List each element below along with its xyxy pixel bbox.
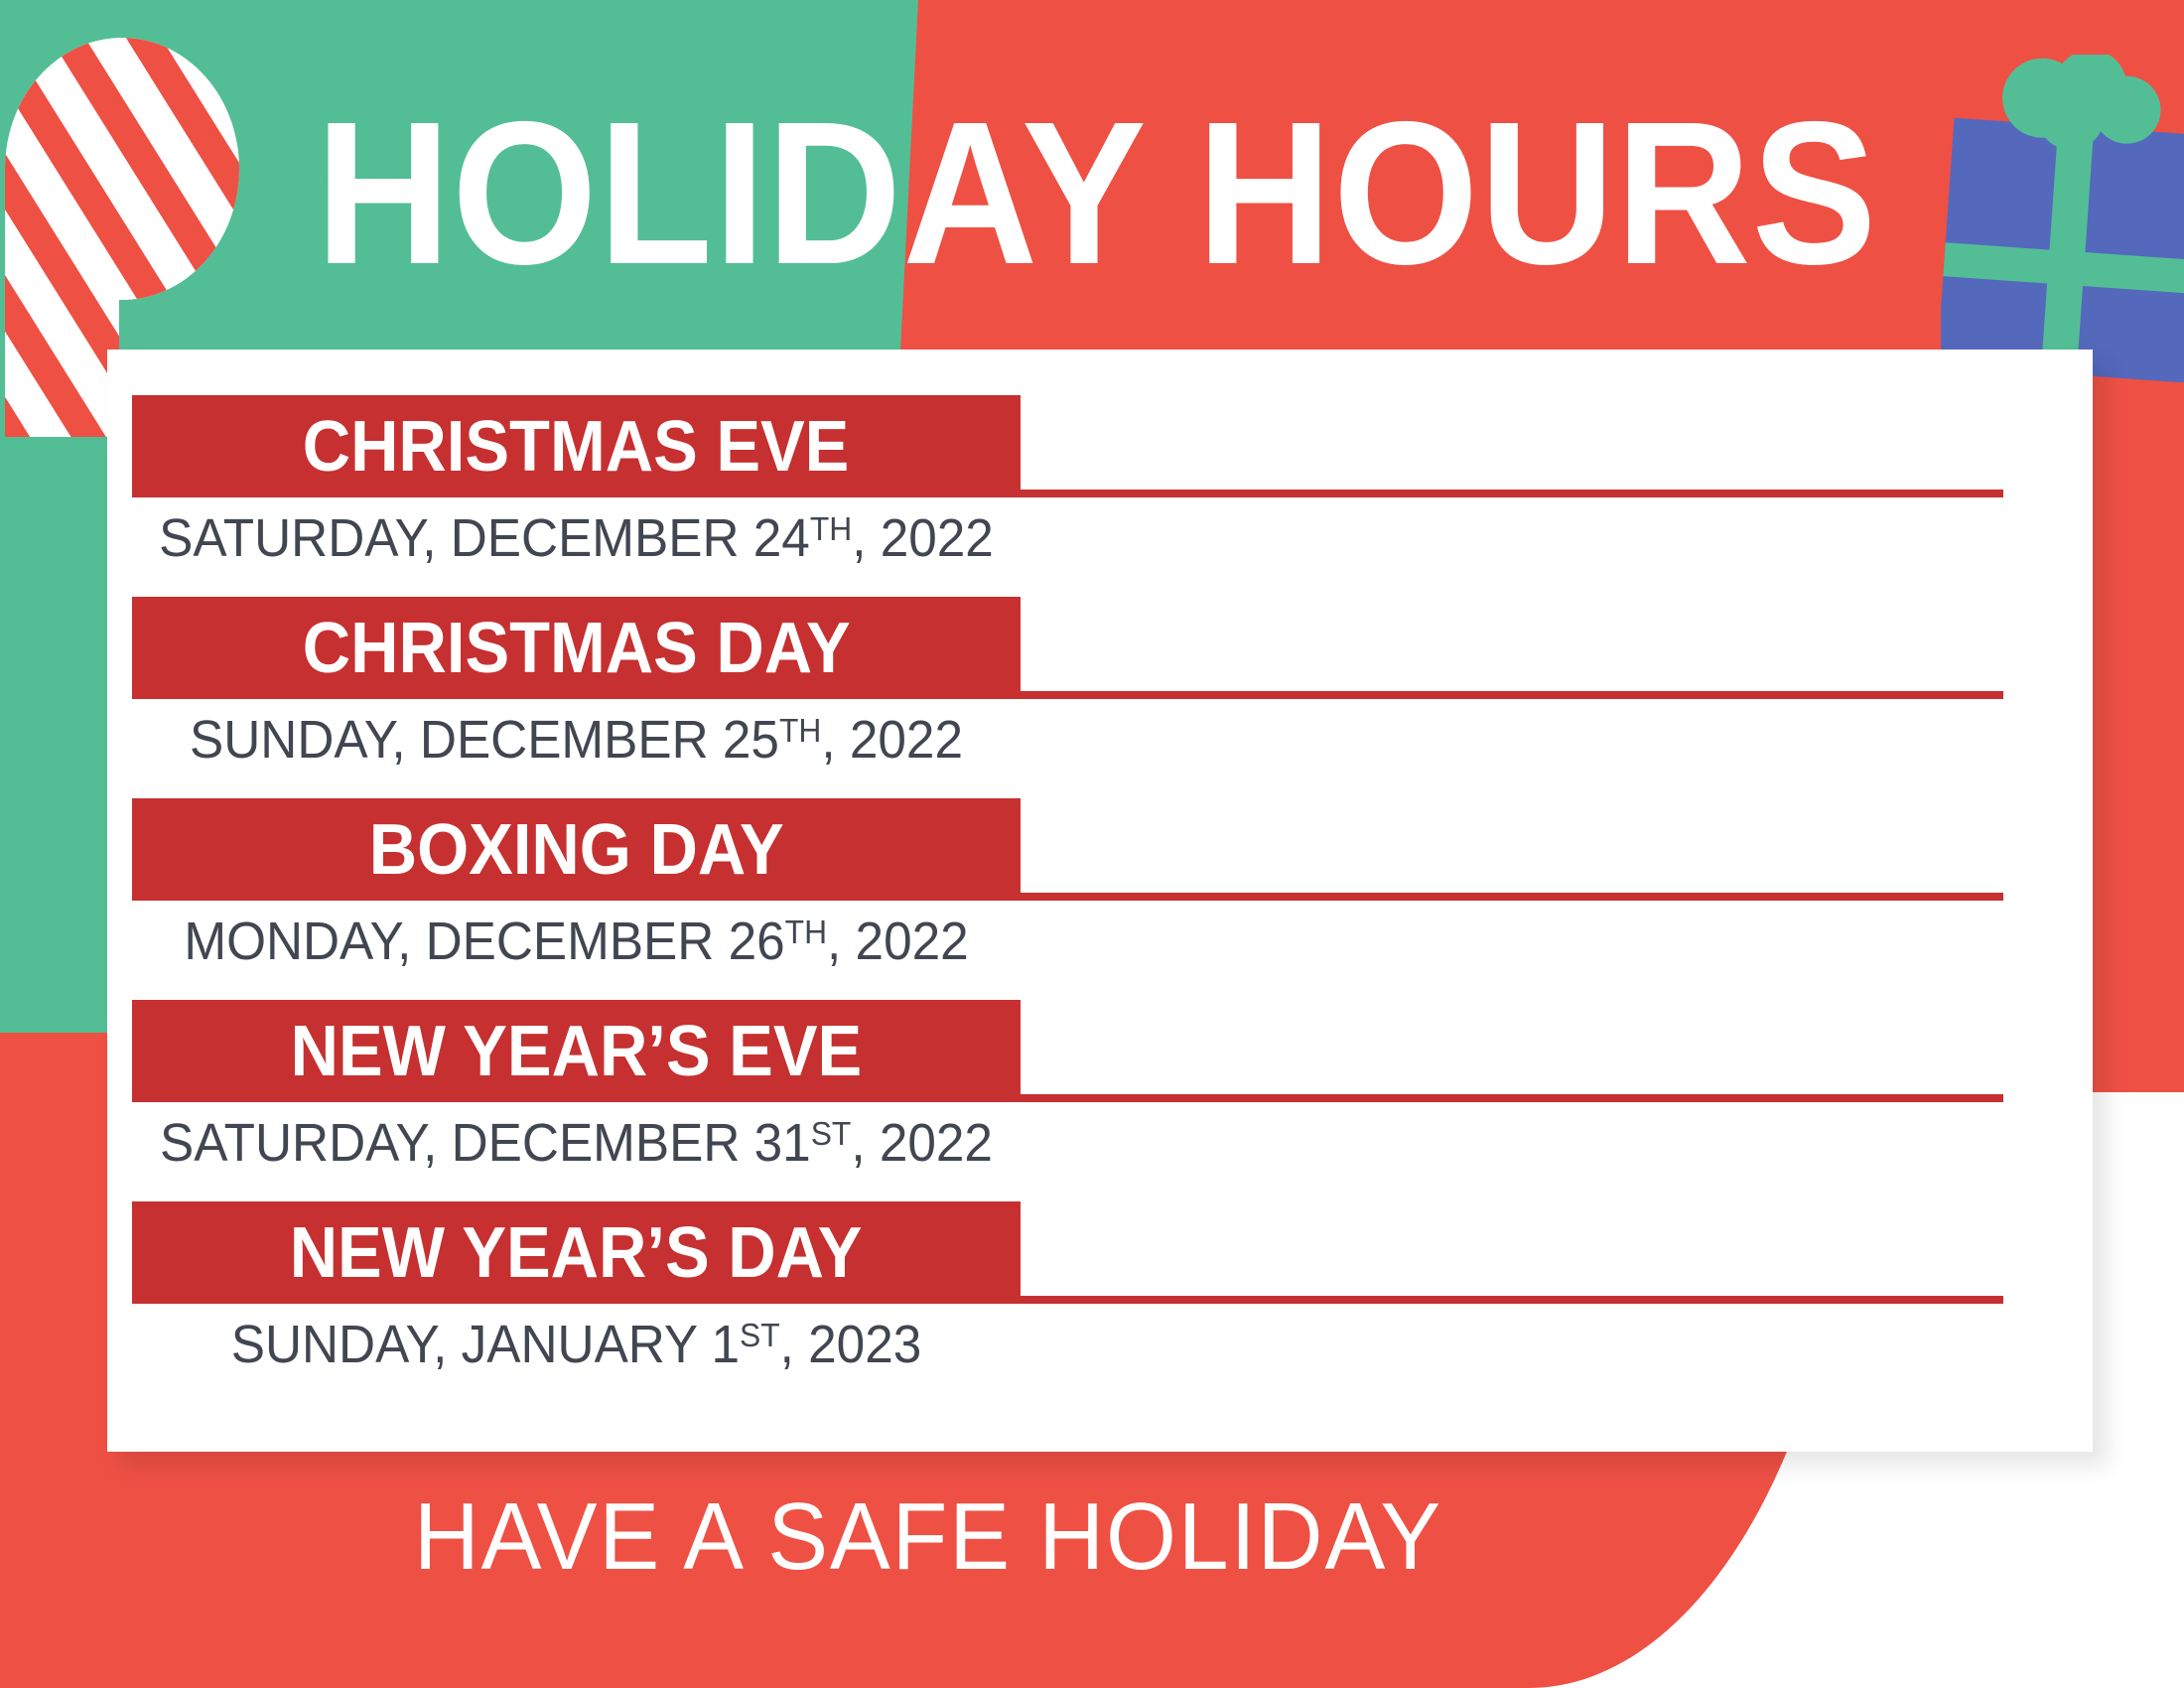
holiday-date-prefix: SATURDAY, DECEMBER 31 [160, 1113, 811, 1173]
holiday-name-bar: NEW YEAR’S DAY [132, 1201, 1021, 1304]
holiday-date-label: SATURDAY, DECEMBER 24TH, 2022 [154, 506, 998, 570]
holiday-name-bar: CHRISTMAS EVE [132, 395, 1021, 497]
holiday-date-prefix: MONDAY, DECEMBER 26 [184, 912, 784, 971]
list-item: NEW YEAR’S EVE SATURDAY, DECEMBER 31ST, … [107, 1000, 2093, 1203]
holiday-date-suffix: , 2022 [827, 912, 969, 971]
holiday-date-suffix: , 2022 [852, 508, 994, 568]
holiday-name-label: NEW YEAR’S EVE [291, 1016, 863, 1087]
holiday-date-label: SATURDAY, DECEMBER 31ST, 2022 [154, 1111, 998, 1175]
holiday-name-bar: BOXING DAY [132, 798, 1021, 901]
page-title: HOLIDAY HOURS [87, 91, 2097, 295]
hours-write-in-line[interactable] [1021, 691, 2003, 699]
holiday-name-label: BOXING DAY [369, 814, 784, 886]
holiday-name-label: NEW YEAR’S DAY [290, 1217, 863, 1289]
holiday-date-label: SUNDAY, JANUARY 1ST, 2023 [154, 1313, 998, 1376]
holiday-name-label: CHRISTMAS EVE [303, 411, 850, 483]
holiday-name-label: CHRISTMAS DAY [303, 613, 851, 684]
hours-card: CHRISTMAS EVE SATURDAY, DECEMBER 24TH, 2… [107, 350, 2093, 1452]
holiday-date-ordinal: ST [811, 1116, 852, 1153]
holiday-date-ordinal: TH [810, 511, 852, 548]
holiday-date-ordinal: TH [779, 713, 821, 750]
holiday-name-bar: NEW YEAR’S EVE [132, 1000, 1021, 1102]
holiday-date-ordinal: ST [740, 1318, 780, 1354]
hours-write-in-line[interactable] [1021, 1296, 2003, 1304]
holiday-date-suffix: , 2022 [821, 710, 963, 770]
hours-write-in-line[interactable] [1021, 490, 2003, 497]
holiday-date-prefix: SUNDAY, DECEMBER 25 [190, 710, 779, 770]
holiday-date-ordinal: TH [785, 914, 827, 951]
holiday-date-prefix: SATURDAY, DECEMBER 24 [159, 508, 810, 568]
hours-write-in-line[interactable] [1021, 1094, 2003, 1102]
holiday-date-prefix: SUNDAY, JANUARY 1 [231, 1315, 740, 1374]
list-item: CHRISTMAS EVE SATURDAY, DECEMBER 24TH, 2… [107, 395, 2093, 599]
list-item: CHRISTMAS DAY SUNDAY, DECEMBER 25TH, 202… [107, 597, 2093, 800]
holiday-hours-poster: HOLIDAY HOURS CHRISTMAS EVE SATURDAY, DE… [0, 0, 2184, 1688]
tagline: HAVE A SAFE HOLIDAY [47, 1489, 1811, 1585]
holiday-date-label: MONDAY, DECEMBER 26TH, 2022 [154, 910, 998, 973]
holiday-date-suffix: , 2023 [780, 1315, 922, 1374]
list-item: NEW YEAR’S DAY SUNDAY, JANUARY 1ST, 2023 [107, 1201, 2093, 1405]
hours-write-in-line[interactable] [1021, 893, 2003, 901]
holiday-date-label: SUNDAY, DECEMBER 25TH, 2022 [154, 708, 998, 772]
holiday-date-suffix: , 2022 [851, 1113, 993, 1173]
list-item: BOXING DAY MONDAY, DECEMBER 26TH, 2022 [107, 798, 2093, 1002]
holiday-name-bar: CHRISTMAS DAY [132, 597, 1021, 699]
holiday-rows-list: CHRISTMAS EVE SATURDAY, DECEMBER 24TH, 2… [107, 350, 2093, 1452]
